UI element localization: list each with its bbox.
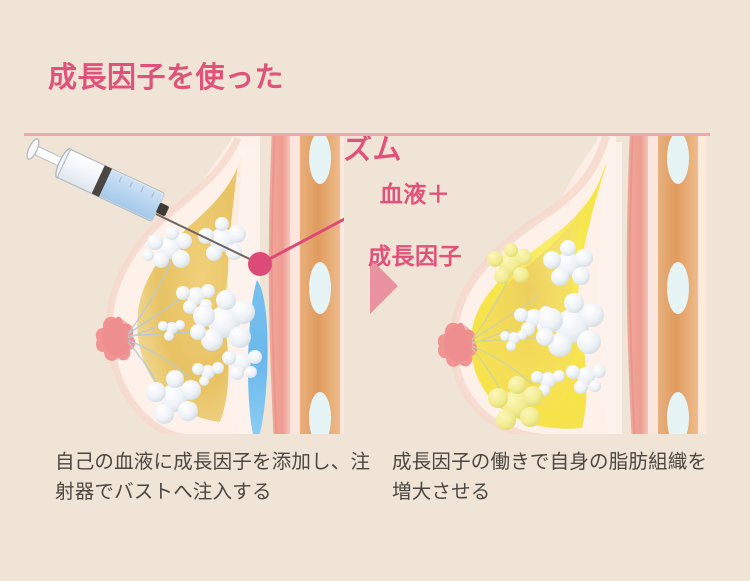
panel-before [24, 136, 344, 434]
callout-label: 血液＋ 成長因子 [368, 148, 462, 303]
caption-after: 成長因子の働きで自身の脂肪組織を増大させる [392, 447, 712, 507]
caption-before: 自己の血液に成長因子を添加し、注射器でバストへ注入する [55, 447, 375, 507]
page-title-line-1: 成長因子を使った [48, 60, 402, 96]
callout-line-2: 成長因子 [368, 241, 462, 272]
callout-line-1: 血液＋ [368, 179, 462, 210]
vertebral-disc [667, 262, 689, 314]
vertebral-disc [309, 262, 331, 314]
header: 成長因子を使った バストアップのメカニズム [0, 0, 750, 134]
infographic-root: 成長因子を使った バストアップのメカニズム [0, 0, 750, 581]
fascia-strip [290, 136, 300, 434]
fascia-strip [648, 136, 658, 434]
breast-cross-section-before [24, 136, 344, 434]
